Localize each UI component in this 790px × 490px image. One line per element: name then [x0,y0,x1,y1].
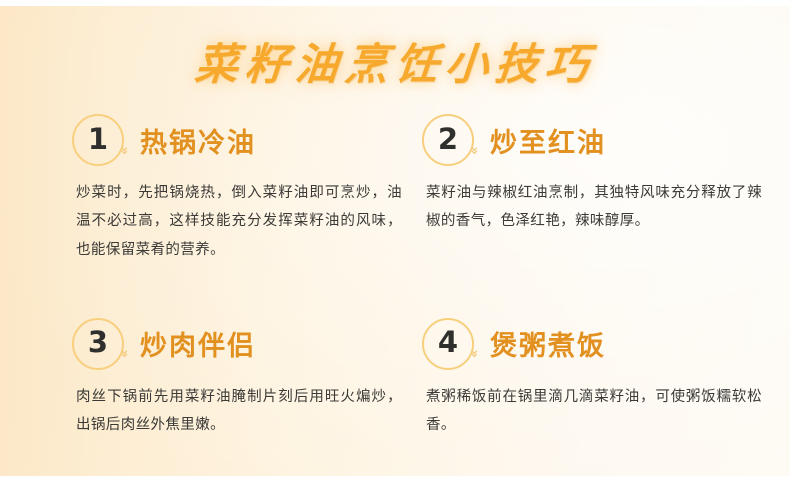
page-title: 菜籽油烹饪小技巧 [193,44,597,87]
tip-item-1: 1 » 热锅冷油 炒菜时，先把锅烧热，倒入菜籽油即可烹炒，油温不必过高，这样技能… [72,112,422,264]
tip-title: 热锅冷油 [140,121,256,160]
tip-body-text: 炒菜时，先把锅烧热，倒入菜籽油即可烹炒，油温不必过高，这样技能充分发挥菜籽油的风… [76,179,402,264]
tip-title: 炒肉伴侣 [140,324,256,363]
tip-body-text: 菜籽油与辣椒红油烹制，其独特风味充分释放了辣椒的香气，色泽红艳，辣味醇厚。 [426,179,762,236]
chevron-down-icon: » [118,350,131,364]
chevron-down-icon: » [468,350,481,364]
tip-header: 4 » 煲粥煮饭 [422,316,772,372]
tip-item-3: 3 » 炒肉伴侣 肉丝下锅前先用菜籽油腌制片刻后用旺火煸炒，出锅后肉丝外焦里嫩。 [72,316,422,440]
tips-grid: 1 » 热锅冷油 炒菜时，先把锅烧热，倒入菜籽油即可烹炒，油温不必过高，这样技能… [72,112,772,439]
tip-body-text: 肉丝下锅前先用菜籽油腌制片刻后用旺火煸炒，出锅后肉丝外焦里嫩。 [76,383,402,440]
tip-title: 炒至红油 [490,121,606,160]
tip-number-badge: 1 [72,114,124,166]
tip-item-4: 4 » 煲粥煮饭 煮粥稀饭前在锅里滴几滴菜籽油，可使粥饭糯软松香。 [422,316,772,440]
tip-number-badge: 2 [422,114,474,166]
tip-item-2: 2 » 炒至红油 菜籽油与辣椒红油烹制，其独特风味充分释放了辣椒的香气，色泽红艳… [422,112,772,264]
tip-body-text: 煮粥稀饭前在锅里滴几滴菜籽油，可使粥饭糯软松香。 [426,383,762,440]
title-container: 菜籽油烹饪小技巧 [0,44,790,87]
chevron-down-icon: » [468,146,481,160]
tip-header: 3 » 炒肉伴侣 [72,316,422,372]
tip-header: 2 » 炒至红油 [422,112,772,168]
poster-root: 菜籽油烹饪小技巧 1 » 热锅冷油 炒菜时，先把锅烧热，倒入菜籽油即可烹炒，油温… [0,0,790,490]
tip-title: 煲粥煮饭 [490,324,606,363]
chevron-down-icon: » [118,146,131,160]
tip-number-badge: 4 [422,318,474,370]
tip-header: 1 » 热锅冷油 [72,112,422,168]
tip-number-badge: 3 [72,318,124,370]
